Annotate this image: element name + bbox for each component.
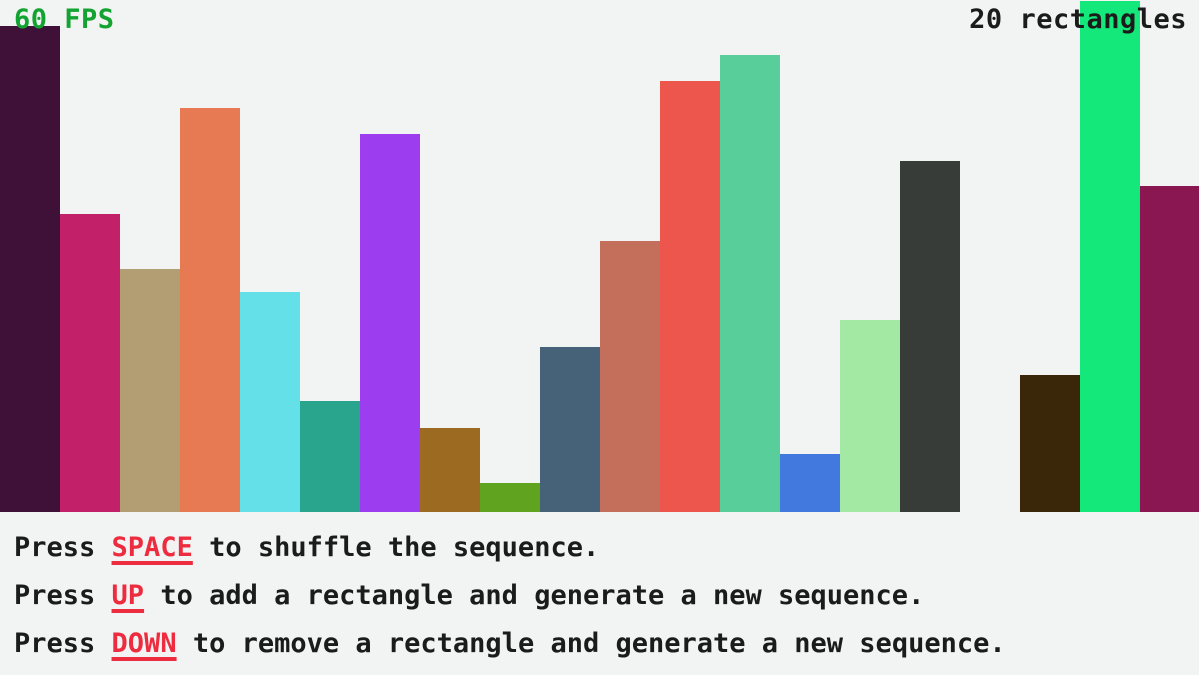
key-space[interactable]: SPACE: [112, 532, 193, 563]
bar-violet: [360, 134, 420, 512]
instruction-prefix: Press: [14, 628, 112, 659]
instruction-prefix: Press: [14, 532, 112, 563]
bar-crimson-pink: [60, 214, 120, 512]
key-up[interactable]: UP: [112, 580, 145, 611]
bar-mint-green: [720, 55, 780, 512]
bar-orange: [180, 108, 240, 512]
instruction-line-3: Press DOWN to remove a rectangle and gen…: [14, 620, 1189, 668]
bar-tan: [120, 269, 180, 512]
bar-steel-blue: [540, 347, 600, 512]
bar-red: [660, 81, 720, 512]
app-root: 60 FPS 20 rectangles Press SPACE to shuf…: [0, 0, 1199, 675]
bar-blue: [780, 454, 840, 512]
bar-dark-slate: [900, 161, 960, 512]
bar-pale-green: [840, 320, 900, 512]
instruction-suffix: to add a rectangle and generate a new se…: [144, 580, 924, 611]
bar-cyan: [240, 292, 300, 512]
rectangle-count-label: 20 rectangles: [969, 6, 1187, 33]
bar-dark-plum: [0, 26, 60, 512]
key-down[interactable]: DOWN: [112, 628, 177, 659]
bar-olive-green: [480, 483, 540, 512]
bar-ochre: [420, 428, 480, 512]
instruction-suffix: to shuffle the sequence.: [193, 532, 599, 563]
instruction-suffix: to remove a rectangle and generate a new…: [177, 628, 1006, 659]
instructions-panel: Press SPACE to shuffle the sequence.Pres…: [14, 524, 1189, 668]
bar-dark-brown: [1020, 375, 1080, 512]
fps-counter: 60 FPS: [14, 6, 115, 33]
instruction-line-1: Press SPACE to shuffle the sequence.: [14, 524, 1189, 572]
bar-dark-magenta: [1140, 186, 1199, 512]
instruction-prefix: Press: [14, 580, 112, 611]
instruction-line-2: Press UP to add a rectangle and generate…: [14, 572, 1189, 620]
bar-salmon-brown: [600, 241, 660, 512]
rectangle-canvas[interactable]: [0, 0, 1199, 512]
bar-bright-green: [1080, 1, 1140, 512]
bar-teal: [300, 401, 360, 512]
